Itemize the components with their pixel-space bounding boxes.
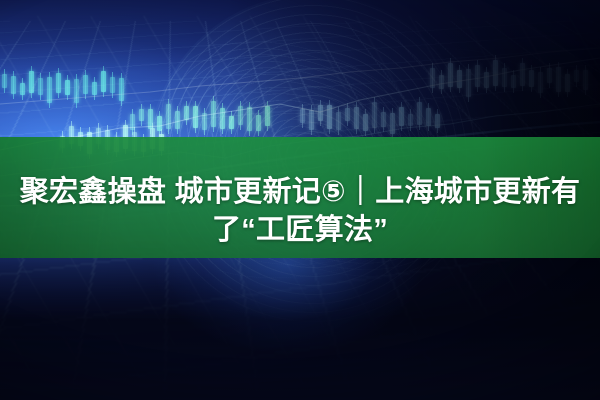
vignette-overlay bbox=[0, 0, 600, 400]
banner-image: 聚宏鑫操盘 城市更新记⑤｜上海城市更新有了“工匠算法” bbox=[0, 0, 600, 400]
